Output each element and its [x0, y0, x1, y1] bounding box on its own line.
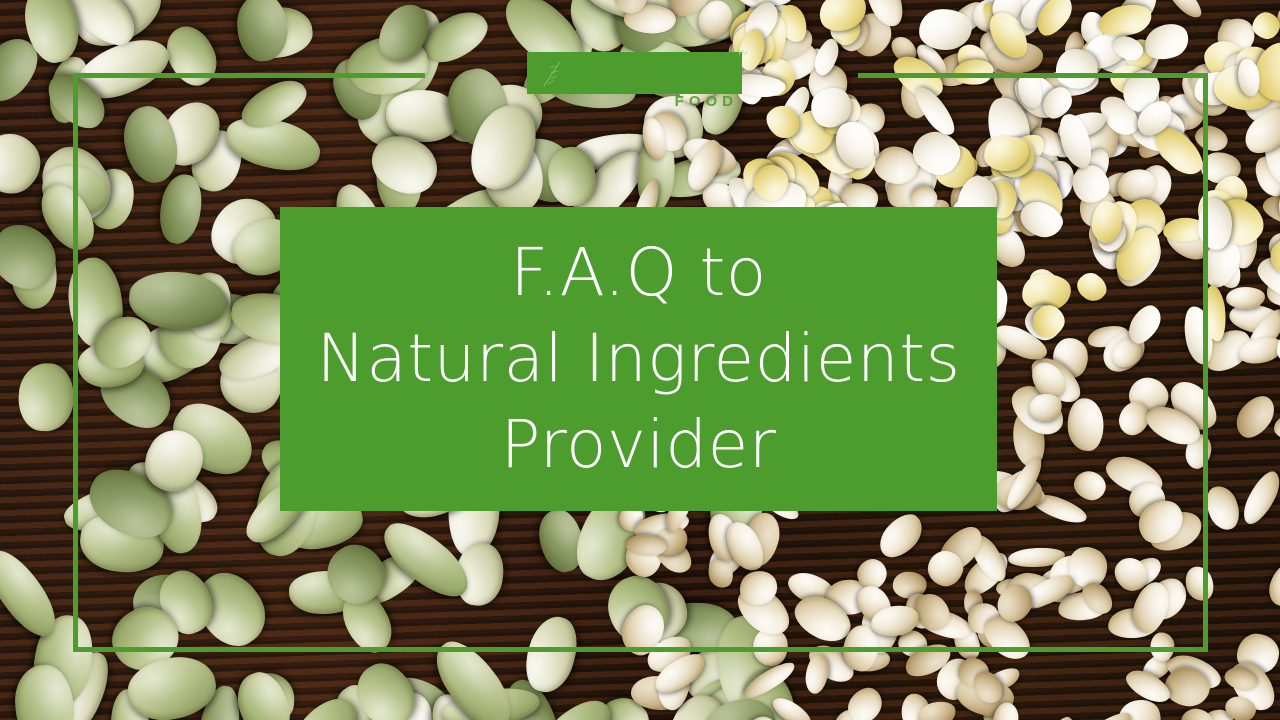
frame-border-bottom	[73, 647, 1208, 652]
frame-border-top-right	[858, 73, 1208, 78]
page-title-line-2: Natural Ingredients	[316, 316, 960, 402]
leaf-icon	[527, 52, 742, 94]
frame-border-left	[73, 73, 78, 652]
logo-subtitle: FOOD	[527, 93, 742, 110]
frame-border-top-left	[73, 73, 425, 78]
title-card: F.A.Q to Natural Ingredients Provider	[280, 207, 997, 511]
frame-border-right	[1203, 73, 1208, 652]
page-title-line-1: F.A.Q to	[510, 230, 767, 316]
faq-title-slide: TM FOOD F.A.Q to Natural Ingredients Pro…	[0, 0, 1280, 720]
page-title-line-3: Provider	[501, 402, 777, 488]
trademark-icon: TM	[737, 50, 748, 57]
aliva-logo[interactable]: TM	[527, 52, 742, 94]
